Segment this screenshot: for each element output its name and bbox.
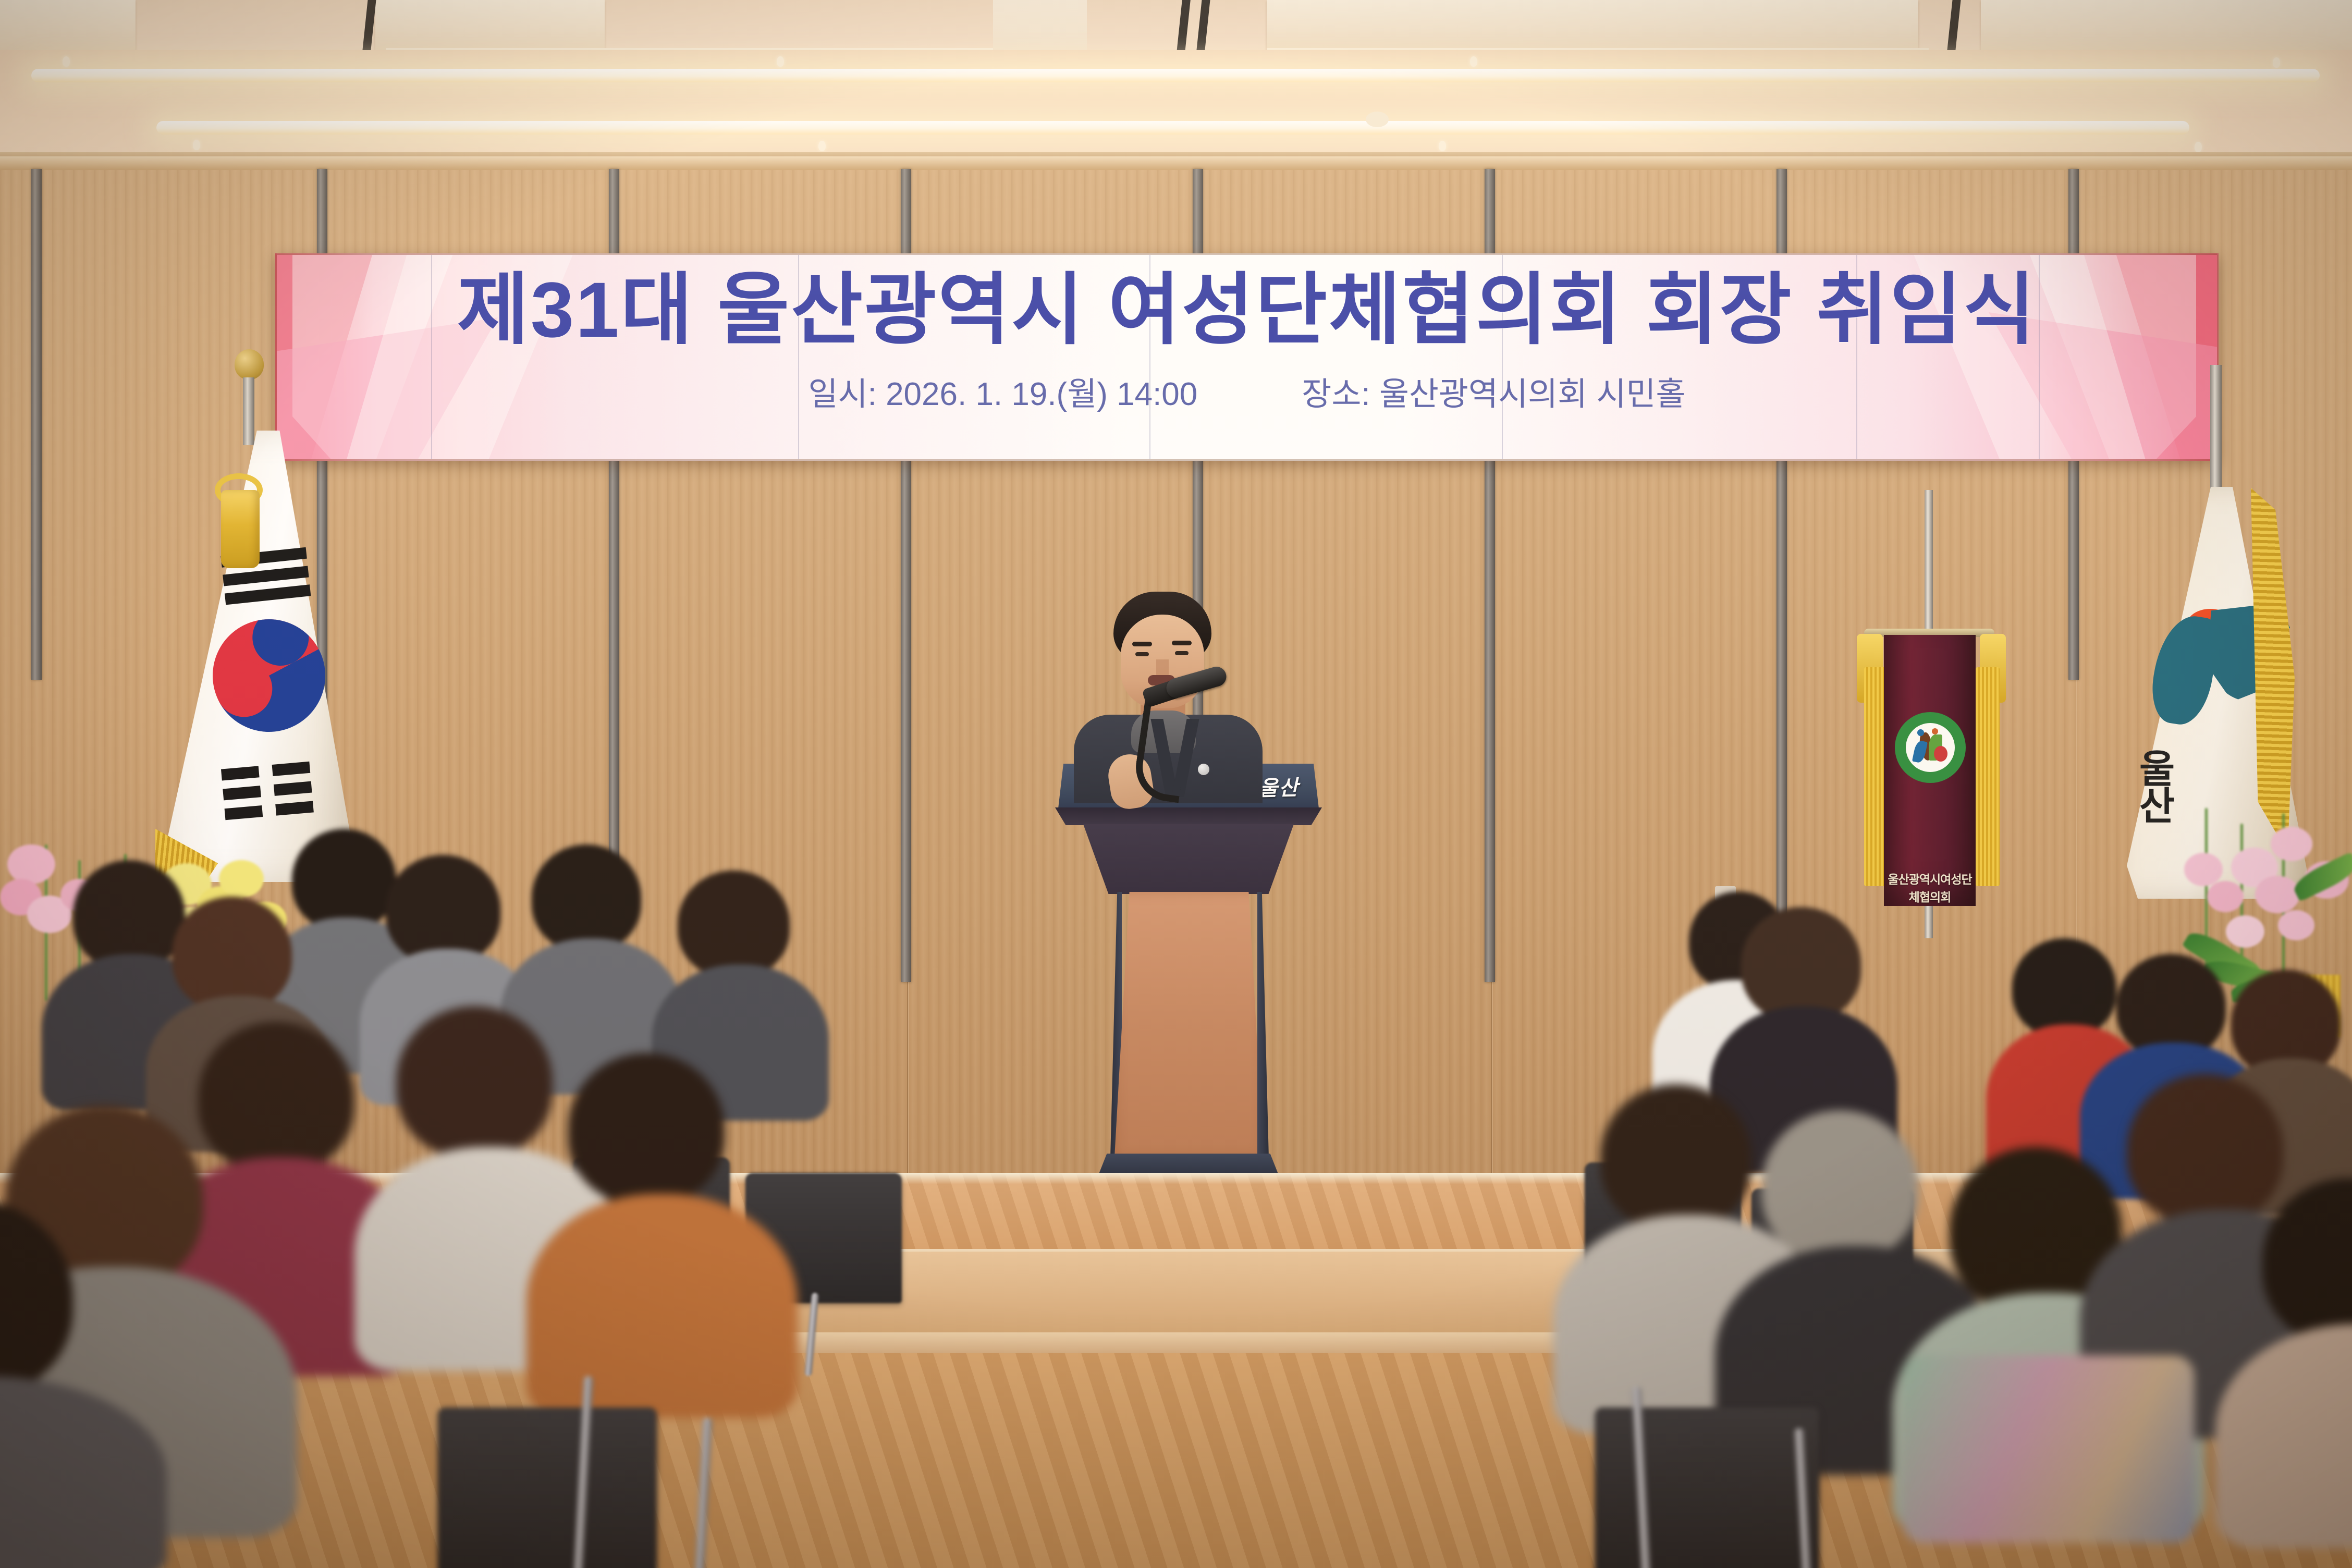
ceiling-soffit — [0, 50, 2352, 157]
microphone-gooseneck — [1132, 694, 1193, 803]
banner-place: 장소: 울산광역시의회 시민홀 — [1302, 367, 1685, 414]
ceiling-led-strip-1 — [31, 69, 2320, 82]
flag-finial-icon — [235, 349, 264, 379]
ceiling-smoke-detector — [1366, 112, 1389, 127]
ceiling-led-strip-2 — [156, 121, 2189, 134]
trigram-gon — [221, 762, 314, 821]
event-banner: 제31대 울산광역시 여성단체협의회 회장 취임식 일시: 2026. 1. 1… — [275, 253, 2219, 461]
podium-column — [1114, 892, 1264, 1158]
podium: 새로 만드는 위대한 울산 — [1058, 764, 1319, 1222]
flag-tassel — [221, 490, 260, 568]
podium-body — [1083, 824, 1294, 894]
banner-date: 일시: 2026. 1. 19.(월) 14:00 — [808, 367, 1198, 414]
pennant-emblem-icon — [1895, 712, 1966, 783]
microphone — [1121, 672, 1256, 792]
korean-national-flag — [156, 412, 365, 881]
pennant-fringe-right — [1976, 667, 2000, 886]
chair-foreground-right — [1574, 1324, 1991, 1568]
event-photograph: 제31대 울산광역시 여성단체협의회 회장 취임식 일시: 2026. 1. 1… — [0, 0, 2352, 1568]
banner-subtitle: 일시: 2026. 1. 19.(월) 14:00장소: 울산광역시의회 시민홀 — [277, 367, 2217, 414]
wall-top-trim — [0, 156, 2352, 170]
chair-foreground-left — [407, 1314, 824, 1568]
flagpole — [243, 377, 254, 445]
podium-column-trim-right — [1257, 892, 1269, 1158]
podium-lip — [1055, 807, 1322, 825]
flagpole — [2210, 365, 2222, 495]
wall-mullion — [31, 169, 42, 680]
banner-title: 제31대 울산광역시 여성단체협의회 회장 취임식 — [277, 271, 2217, 349]
